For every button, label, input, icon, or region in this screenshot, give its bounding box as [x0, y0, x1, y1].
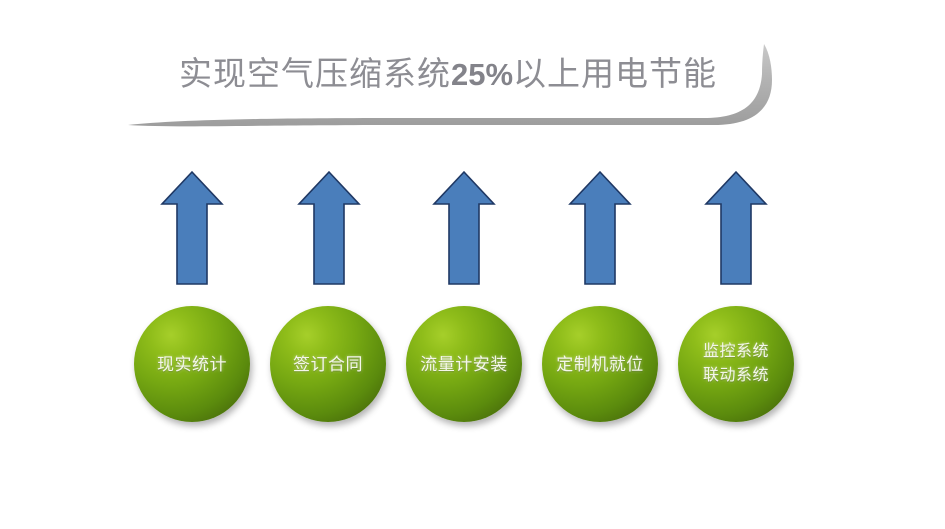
up-arrow-icon-5: [704, 170, 768, 286]
title-banner: 实现空气压缩系统25%以上用电节能: [118, 38, 778, 133]
process-node-1[interactable]: 现实统计: [134, 306, 250, 422]
process-node-2[interactable]: 签订合同: [270, 306, 386, 422]
process-node-label: 流量计安装: [416, 353, 512, 376]
process-node-3[interactable]: 流量计安装: [406, 306, 522, 422]
process-node-4[interactable]: 定制机就位: [542, 306, 658, 422]
process-node-label: 现实统计: [153, 353, 231, 376]
process-node-label: 签订合同: [289, 353, 367, 376]
up-arrow-icon-3: [432, 170, 496, 286]
title-part-before: 实现空气压缩系统: [179, 57, 451, 93]
title-part-after: 以上用电节能: [513, 57, 717, 93]
slide-canvas: 实现空气压缩系统25%以上用电节能 现实统计 签订合同 流量计安装 定制机就位 …: [0, 0, 945, 529]
up-arrow-icon-4: [568, 170, 632, 286]
process-node-label: 定制机就位: [552, 353, 648, 376]
process-node-5[interactable]: 监控系统 联动系统: [678, 306, 794, 422]
up-arrow-icon-2: [297, 170, 361, 286]
process-node-label: 监控系统 联动系统: [699, 340, 773, 388]
title-percent: 25%: [451, 57, 513, 92]
page-title: 实现空气压缩系统25%以上用电节能: [148, 46, 748, 104]
up-arrow-icon-1: [160, 170, 224, 286]
